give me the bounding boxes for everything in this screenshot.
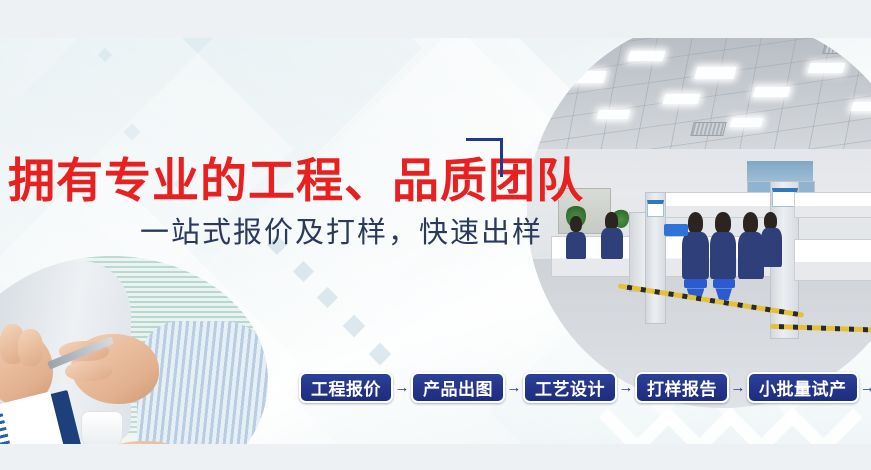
ceiling-lamp (730, 118, 764, 127)
worker (710, 232, 736, 279)
decorative-diamond (124, 124, 141, 141)
ceiling-vent (690, 122, 727, 136)
stool (684, 279, 708, 289)
worker (715, 212, 731, 234)
decorative-diamond (369, 343, 392, 366)
arrow-right-icon: → (394, 380, 410, 395)
stool (713, 279, 735, 289)
process-flow: 工程报价 → 产品出图 → 工艺设计 → 打样报告 → 小批量试产 → 批量量产 (299, 372, 871, 403)
page-subtitle: 一站式报价及打样，快速出样 (140, 219, 543, 248)
top-band (0, 0, 871, 38)
finger (65, 361, 112, 381)
process-step-sample-report[interactable]: 打样报告 (635, 372, 729, 403)
ceiling-lamp (851, 102, 871, 111)
bottom-band (0, 444, 871, 470)
ceiling-lamp (565, 71, 608, 83)
ceiling-vent (822, 38, 871, 53)
decorative-diamond (343, 315, 366, 338)
window-blind (747, 161, 814, 182)
work-bench (794, 192, 871, 218)
ceiling-lamp (753, 87, 791, 97)
promo-banner: 拥有专业的工程、品质团队 一站式报价及打样，快速出样 工程报价 → 产品出图 →… (0, 0, 871, 470)
worker (605, 212, 618, 230)
worker (570, 216, 582, 232)
worker (761, 228, 781, 267)
photo-scene (0, 256, 268, 444)
arrow-right-icon: → (506, 380, 522, 395)
coffee-cup (81, 411, 124, 444)
decorative-diamond (98, 48, 112, 62)
worker (566, 232, 586, 259)
process-step-process-design[interactable]: 工艺设计 (523, 372, 617, 403)
parts-tray (664, 224, 688, 236)
decorative-diamond (317, 287, 338, 308)
banner-stage: 拥有专业的工程、品质团队 一站式报价及打样，快速出样 工程报价 → 产品出图 →… (0, 38, 871, 444)
finger (18, 329, 43, 367)
process-step-small-batch-trial[interactable]: 小批量试产 (747, 372, 859, 403)
process-step-product-drawing[interactable]: 产品出图 (411, 372, 505, 403)
ceiling-lamp (627, 51, 665, 61)
ceiling-lamp (808, 63, 846, 73)
station-label-tag (647, 200, 665, 217)
photo-scene (527, 38, 871, 408)
worker (682, 232, 709, 279)
business-meeting-photo (0, 256, 268, 444)
work-bench (794, 239, 871, 280)
ceiling-lamp (663, 94, 701, 104)
process-step-engineering-quote[interactable]: 工程报价 (299, 372, 393, 403)
ceiling-lamp (596, 110, 630, 119)
ceiling-lamp (694, 67, 737, 79)
worker (738, 232, 764, 279)
decorative-diamond (293, 261, 314, 282)
worker (601, 228, 623, 259)
worker (743, 212, 759, 234)
arrow-right-icon: → (860, 380, 871, 395)
arrow-right-icon: → (730, 380, 746, 395)
arrow-right-icon: → (618, 380, 634, 395)
corner-bracket-decoration (466, 138, 503, 177)
office-workspace-photo (527, 38, 871, 408)
worker (688, 212, 704, 234)
